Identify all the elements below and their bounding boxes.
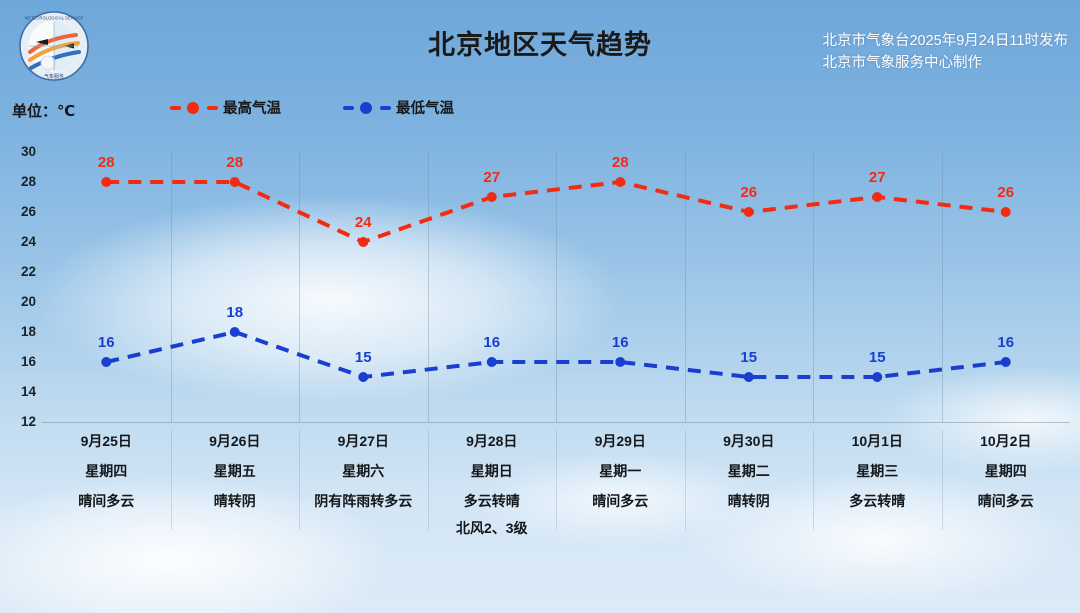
unit-label: 单位：℃: [12, 100, 75, 121]
day-column-separator: [299, 430, 300, 530]
y-axis-tick: 30: [0, 144, 36, 159]
day-weekday: 星期一: [556, 456, 685, 486]
day-weather: 晴转阴: [171, 486, 300, 516]
issuer-line-1: 北京市气象台2025年9月24日11时发布: [822, 30, 1068, 52]
day-weather: 晴间多云: [556, 486, 685, 516]
legend-marker-low-temp-icon: [343, 102, 391, 114]
day-date: 9月28日: [428, 426, 557, 456]
y-axis-tick: 16: [0, 354, 36, 369]
legend-label-low-temp: 最低气温: [396, 97, 454, 118]
day-weather: 多云转晴: [813, 486, 942, 516]
y-axis-tick: 18: [0, 324, 36, 339]
day-weekday: 星期三: [813, 456, 942, 486]
day-column-separator: [685, 430, 686, 530]
day-weather: 晴间多云: [942, 486, 1071, 516]
chart-gridline: [171, 152, 172, 422]
day-column-separator: [942, 430, 943, 530]
y-axis-tick: 14: [0, 384, 36, 399]
y-axis-tick: 24: [0, 234, 36, 249]
day-column: 10月2日星期四晴间多云: [942, 426, 1071, 516]
low-temp-value-label: 18: [226, 304, 243, 321]
high-temp-value-label: 28: [98, 154, 115, 171]
day-date: 9月29日: [556, 426, 685, 456]
y-axis-tick: 26: [0, 204, 36, 219]
low-temp-value-label: 15: [740, 349, 757, 366]
weather-trend-infographic: METEOROLOGICAL SERVICE 气象服务 北京地区天气趋势 北京市…: [0, 0, 1080, 613]
y-axis-tick: 20: [0, 294, 36, 309]
high-temp-value-label: 27: [869, 169, 886, 186]
high-temp-value-label: 26: [997, 184, 1014, 201]
chart-gridline: [428, 152, 429, 422]
day-weekday: 星期四: [42, 456, 171, 486]
y-axis-tick: 12: [0, 414, 36, 429]
day-column: 9月25日星期四晴间多云: [42, 426, 171, 516]
day-date: 10月1日: [813, 426, 942, 456]
legend-item-high-temp: 最高气温: [170, 97, 281, 118]
chart-gridline: [556, 152, 557, 422]
low-temp-value-label: 15: [355, 349, 372, 366]
day-wind: 北风2、3级: [428, 516, 557, 540]
day-weekday: 星期五: [171, 456, 300, 486]
day-weather: 阴有阵雨转多云: [299, 486, 428, 516]
low-temp-value-label: 16: [997, 334, 1014, 351]
y-axis-tick: 22: [0, 264, 36, 279]
day-column: 9月28日星期日多云转晴北风2、3级: [428, 426, 557, 540]
chart-gridline: [685, 152, 686, 422]
chart-legend: 最高气温 最低气温: [170, 97, 454, 118]
high-temp-value-label: 26: [740, 184, 757, 201]
high-temp-value-label: 24: [355, 214, 372, 231]
y-axis-tick: 28: [0, 174, 36, 189]
day-weekday: 星期二: [685, 456, 814, 486]
day-column: 10月1日星期三多云转晴: [813, 426, 942, 516]
legend-marker-high-temp-icon: [170, 102, 218, 114]
chart-gridline: [942, 152, 943, 422]
day-weather: 晴转阴: [685, 486, 814, 516]
day-weather: 多云转晴: [428, 486, 557, 516]
issuer-info: 北京市气象台2025年9月24日11时发布 北京市气象服务中心制作: [822, 30, 1068, 74]
day-date: 9月25日: [42, 426, 171, 456]
day-column-separator: [813, 430, 814, 530]
day-column-separator: [428, 430, 429, 530]
low-temp-value-label: 16: [483, 334, 500, 351]
svg-text:METEOROLOGICAL SERVICE: METEOROLOGICAL SERVICE: [25, 16, 84, 21]
day-weather: 晴间多云: [42, 486, 171, 516]
day-date: 9月26日: [171, 426, 300, 456]
svg-text:气象服务: 气象服务: [44, 73, 64, 80]
chart-gridline: [813, 152, 814, 422]
issuer-line-2: 北京市气象服务中心制作: [822, 52, 1068, 74]
high-temp-value-label: 27: [483, 169, 500, 186]
day-date: 10月2日: [942, 426, 1071, 456]
legend-label-high-temp: 最高气温: [223, 97, 281, 118]
day-column-separator: [556, 430, 557, 530]
low-temp-value-label: 15: [869, 349, 886, 366]
chart-gridline: [299, 152, 300, 422]
low-temp-value-label: 16: [612, 334, 629, 351]
day-column: 9月26日星期五晴转阴: [171, 426, 300, 516]
low-temp-value-label: 16: [98, 334, 115, 351]
chart-plot-area: [42, 152, 1070, 422]
day-column: 9月30日星期二晴转阴: [685, 426, 814, 516]
day-column: 9月27日星期六阴有阵雨转多云: [299, 426, 428, 516]
day-weekday: 星期日: [428, 456, 557, 486]
x-axis-line: [42, 422, 1070, 423]
high-temp-value-label: 28: [226, 154, 243, 171]
day-column-separator: [171, 430, 172, 530]
high-temp-value-label: 28: [612, 154, 629, 171]
day-weekday: 星期六: [299, 456, 428, 486]
day-column: 9月29日星期一晴间多云: [556, 426, 685, 516]
legend-item-low-temp: 最低气温: [343, 97, 454, 118]
day-date: 9月27日: [299, 426, 428, 456]
day-date: 9月30日: [685, 426, 814, 456]
day-weekday: 星期四: [942, 456, 1071, 486]
